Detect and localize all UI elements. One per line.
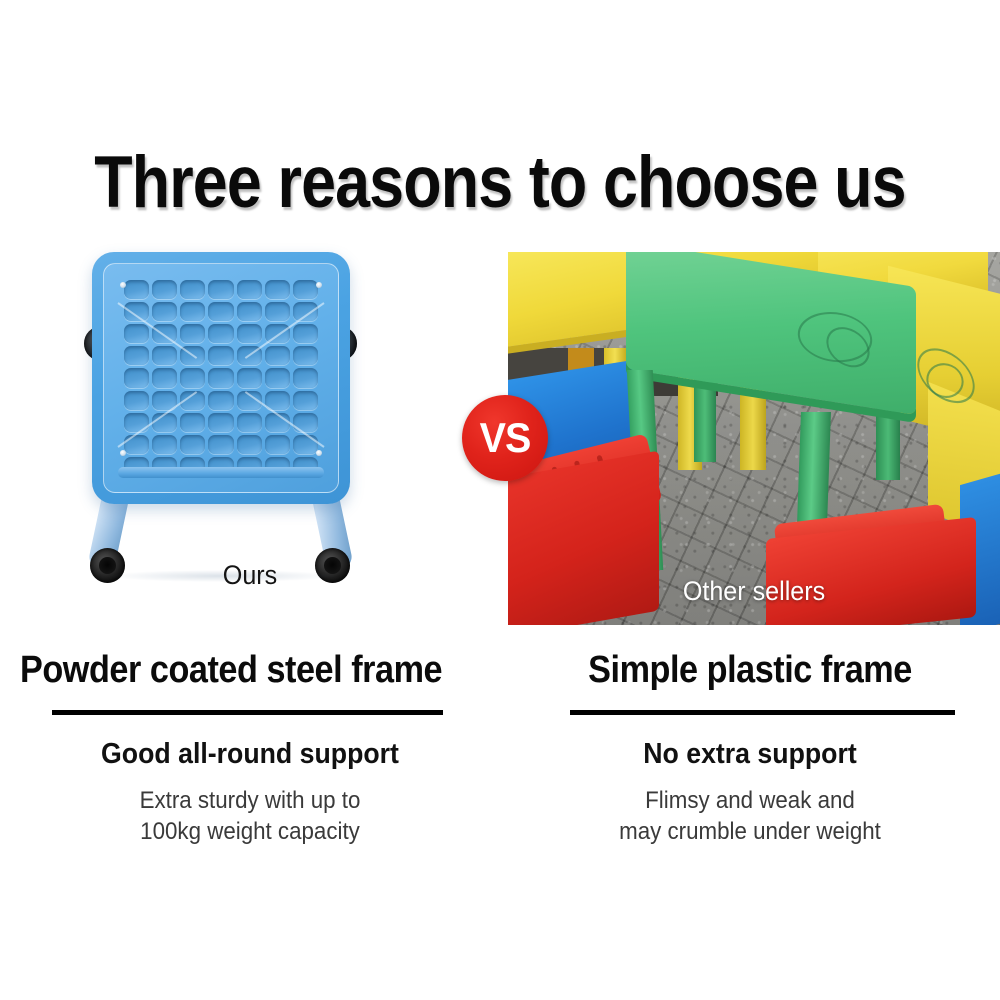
others-body-line-2: may crumble under weight [518,816,983,847]
ours-text-column: Powder coated steel frame Good all-round… [0,648,500,847]
screw-head [120,282,126,288]
others-divider [570,710,955,715]
blue-table-underside-illustration [92,248,350,548]
ours-sub-heading: Good all-round support [20,737,480,771]
ours-heading: Powder coated steel frame [20,648,452,692]
ours-divider [52,710,443,715]
dimple-rib-grid [124,280,318,476]
ours-body-line-2: 100kg weight capacity [18,816,483,847]
green-table-leg-back-left [694,370,716,462]
screw-head [316,450,322,456]
ours-image-panel: Ours [0,230,500,630]
other-sellers-photo: Other sellers [508,252,1000,625]
ours-caption: Ours [18,560,483,591]
screw-head [120,450,126,456]
vs-label: VS [480,414,531,462]
others-text-column: Simple plastic frame No extra support Fl… [500,648,1000,847]
page-title: Three reasons to choose us [70,144,930,222]
ours-body-line-1: Extra sturdy with up to [18,785,483,816]
others-heading: Simple plastic frame [525,648,975,692]
other-sellers-caption: Other sellers [525,576,983,607]
comparison-media-row: Ours [0,230,1000,630]
others-sub-heading: No extra support [520,737,980,771]
tabletop-inner-panel [103,263,339,493]
support-rail [118,467,324,478]
screw-head [316,282,322,288]
tabletop-panel [92,252,350,504]
vs-badge: VS [462,395,548,481]
others-body-line-1: Flimsy and weak and [518,785,983,816]
